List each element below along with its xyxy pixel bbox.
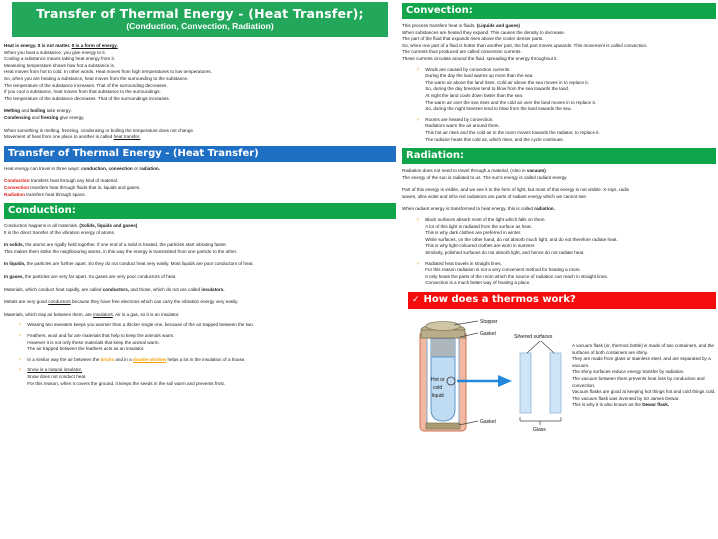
transfer-block: Heat energy can travel in three ways: co… [4, 166, 396, 198]
check-icon: ✓ [18, 322, 22, 329]
list-item: ✓ Snow is a natural insulator. Snow does… [18, 367, 396, 387]
and-1: and [21, 108, 29, 113]
convection-line: So, when one part of a fluid is hotter t… [402, 43, 716, 50]
bullet-line: This is why dark clothes are preferred i… [425, 230, 618, 237]
bullet-line: The air trapped between the feathers act… [27, 346, 174, 353]
radiation-block: Radiation does not need to travel throug… [402, 168, 716, 287]
state-change-line-1: Melting and boiling take energy. [4, 108, 396, 115]
section-bar-thermos: ✓How does a thermos work? [408, 292, 716, 309]
transform-pre: When radiant energy is transformed to he… [402, 206, 533, 211]
give-energy: give energy. [60, 115, 85, 120]
thermos-final-line: This is why it is also known as the Dewa… [572, 402, 718, 409]
thermos-desc-line: The vacuum flask was invented by Sir Jam… [572, 396, 718, 403]
check-icon: ✓ [416, 117, 420, 143]
bullet-line: This hot air rises and the cold air in t… [425, 130, 600, 137]
transfer-lead-pre: Heat energy can travel in three ways: [4, 166, 80, 171]
convection-line: The currents thus produced are called co… [402, 49, 716, 56]
metals-line: Metals are very good conductors because … [4, 299, 396, 306]
intro-line: So, when you are heating a substance, he… [4, 76, 396, 83]
list-item: ✓ Feathers, wool and fur are materials t… [18, 333, 396, 353]
solids-line-1: the atoms are rigidly held together. If … [24, 242, 227, 247]
bullet-line: The warm air over the sea rises and the … [425, 100, 596, 107]
intro-line: The temperature of the substance decreas… [4, 96, 396, 103]
trapped-post: . Air is a gas, so it is an insulator. [113, 312, 180, 317]
check-icon: ✓ [18, 357, 22, 364]
in-gases-lead: In gases, [4, 274, 24, 279]
bullet-line: Convection is a much better way of heati… [425, 280, 608, 287]
thermos-desc-line: A vacuum flask (or, thermos bottle) is m… [572, 343, 718, 350]
thermos-diagram: Stopper Gasket Gasket Hot or cold liquid… [402, 313, 718, 438]
list-item: ✓ Black surfaces absorb most of the ligh… [416, 217, 716, 257]
intro-line: The temperature of the substance increas… [4, 83, 396, 90]
trapped-air-line: Materials, which trap air between them, … [4, 312, 396, 319]
intro-heading-a: Heat is energy. It is not matter. [4, 43, 70, 48]
bullet-line: It only heats the parts of the room whic… [425, 274, 608, 281]
right-column: Convection: This process transfers heat … [400, 0, 718, 539]
check-icon: ✓ [416, 261, 420, 287]
definition-row: Radiation transfers heat through space. [4, 192, 396, 199]
definition-row: Convection transfers heat through fluids… [4, 185, 396, 192]
conductors-term: conductors, [103, 287, 129, 292]
in-solids-lead: In solids, [4, 242, 24, 247]
melting-term: Melting [4, 108, 20, 113]
heat-transfer-term: heat transfer. [114, 134, 141, 139]
bullet-text-group: Feathers, wool and fur are materials tha… [27, 333, 174, 353]
bullet-line: Winds are caused by convection currents. [425, 67, 596, 74]
bullet-line: So, during the night breezes tend to blo… [425, 106, 596, 113]
bullet-line: For this reason, when it covers the grou… [27, 381, 225, 388]
bullet-line: White surfaces, on the other hand, do no… [425, 237, 618, 244]
convection-line: These currents circulate around the flui… [402, 56, 716, 63]
list-item: ✓ In a similar way the air between the b… [18, 357, 396, 364]
bullet-text-group: Black surfaces absorb most of the light … [425, 217, 618, 257]
trapped-insulators-term: insulators [93, 312, 113, 317]
bullet-line: Snow does not conduct heat. [27, 374, 225, 381]
and-2: and [32, 115, 40, 120]
metals-conductors-term: conductors [48, 299, 70, 304]
conduction-lead-1: Conduction happens in all materials. (So… [4, 223, 396, 230]
bullet-text-group: Winds are caused by convection currents.… [425, 67, 596, 113]
conduction-block: Conduction happens in all materials. (So… [4, 223, 396, 387]
def-text-conduction: transfers heat through any kind of mater… [31, 178, 118, 183]
conduction-lead-pre: Conduction happens in all materials. [4, 223, 78, 228]
liquids-and-gases: (Liquids and gases) [477, 23, 520, 28]
section-bar-convection: Convection: [402, 3, 716, 19]
state-change-line-2: Condensing and freezing give energy. [4, 115, 396, 122]
dewar-flask-term: Dewar flask. [642, 402, 669, 407]
take-energy: take energy. [47, 108, 72, 113]
def-text-convection: transfers heat through fluids-that is, l… [30, 185, 140, 190]
bullet-line: Feathers, wool and fur are materials tha… [27, 333, 174, 340]
def-term-convection: Convection [4, 185, 29, 190]
thermos-desc-line: surfaces of both containers are shiny. [572, 350, 718, 357]
radiation-lead-1: Radiation does not need to travel throug… [402, 168, 716, 175]
label-liquid-3: liquid [432, 393, 444, 399]
thermos-desc-line: The vacuum between them prevents heat lo… [572, 376, 718, 389]
intro-line: Measuring temperature shows how hot a su… [4, 63, 396, 70]
final-pre: This is why it is also known as the [572, 402, 641, 407]
bullet-post: helps a lot in the insulation of a house… [167, 357, 245, 362]
bullet-pre: In a similar way the air between the [27, 357, 99, 362]
bullet-line: Black surfaces absorb most of the light … [425, 217, 618, 224]
thermos-description: A vacuum flask (or, thermos bottle) is m… [572, 343, 718, 409]
list-item: ✓ Winds are caused by convection current… [416, 67, 716, 113]
section-bar-radiation: Radiation: [402, 148, 716, 164]
conductors-line: Materials, which conduct heat rapidly, a… [4, 287, 396, 294]
list-item: ✓ Radiated heat travels in straight line… [416, 261, 716, 287]
convection-line: When substances are heated they expand. … [402, 30, 716, 37]
conduction-para-solids: In solids, the atoms are rigidly held to… [4, 242, 396, 249]
check-icon: ✓ [416, 67, 420, 113]
bullet-line: Rooms are heated by convection. [425, 117, 600, 124]
conduction-word: conduction, [81, 166, 107, 171]
radiation-word: radiation. [139, 166, 160, 171]
thermos-desc-line: The shiny surfaces reduce energy transfe… [572, 369, 718, 376]
bullet-line: So, during the day breezes tend to blow … [425, 86, 596, 93]
convection-block: This process transfers heat in fluids. (… [402, 23, 716, 143]
radiation-visible-1: Part of this energy is visible, and we s… [402, 187, 716, 194]
closing-pre: Movement of heat from one place to anoth… [4, 134, 112, 139]
highlight-bricks: bricks [101, 357, 115, 362]
worksheet-page: Transfer of Thermal Energy - (Heat Trans… [0, 0, 718, 539]
conductors-pre: Materials, which conduct heat rapidly, a… [4, 287, 101, 292]
bullet-line: Snow is a natural insulator. [27, 367, 225, 374]
conduction-para-gases: In gases, the particles are very far apa… [4, 274, 396, 281]
in-liquids-lead: In liquids, [4, 261, 25, 266]
bullet-line: However it is not only these materials t… [27, 340, 174, 347]
highlight-double-window: double window [133, 357, 166, 362]
left-column: Transfer of Thermal Energy - (Heat Trans… [0, 0, 400, 539]
condensing-term: Condensing [4, 115, 31, 120]
main-title: Transfer of Thermal Energy - (Heat Trans… [14, 6, 386, 21]
check-icon: ✓ [18, 367, 22, 387]
freezing-term: freezing [41, 115, 59, 120]
label-liquid-2: cold [433, 385, 442, 391]
conduction-para-liquids: In liquids, the particles are further ap… [4, 261, 396, 268]
radiation-transform: When radiant energy is transformed to he… [402, 206, 716, 213]
label-gasket-bottom: Gasket [480, 419, 496, 425]
liquids-line-1: the particles are further apart. So they… [25, 261, 253, 266]
def-term-radiation: Radiation [4, 192, 25, 197]
main-title-banner: Transfer of Thermal Energy - (Heat Trans… [12, 2, 388, 37]
conduction-lead-2: It is the direct transfer of the vibrati… [4, 230, 396, 237]
radiation-visible-2: waves, ultra violet and infra red radiat… [402, 194, 716, 201]
bullet-text-group: Snow is a natural insulator. Snow does n… [27, 367, 225, 387]
check-icon: ✓ [18, 333, 22, 353]
check-icon: ✓ [416, 217, 420, 257]
bullet-line: At night the land cools down faster than… [425, 93, 596, 100]
radiation-lead-2: The energy of the sun is radiated to us.… [402, 175, 716, 182]
vacuum-term: vacuum) [527, 168, 546, 173]
bullet-line: For this reason radiation is not a very … [425, 267, 608, 274]
convection-lead-pre: This process transfers heat in fluids. [402, 23, 476, 28]
intro-line: Cooling a substance means taking heat en… [4, 56, 396, 63]
convection-lead: This process transfers heat in fluids. (… [402, 23, 716, 30]
label-stopper: Stopper [480, 319, 498, 325]
label-silvered-surfaces: Silvered surfaces [514, 334, 553, 340]
intro-block: Heat is energy. It is not matter. It is … [4, 43, 396, 141]
transfer-lead: Heat energy can travel in three ways: co… [4, 166, 396, 173]
list-item: ✓ Rooms are heated by convection. Radiat… [416, 117, 716, 143]
trapped-pre: Materials, which trap air between them, … [4, 312, 92, 317]
bullet-line: The warm air above the land rises. Cold … [425, 80, 596, 87]
intro-line: When you heat a substance, you give ener… [4, 50, 396, 57]
def-term-conduction: Conduction [4, 178, 30, 183]
bullet-line: Radiators warm the air around them. [425, 123, 600, 130]
bullet-text-group: Radiated heat travels in straight lines.… [425, 261, 608, 287]
section-bar-conduction: Conduction: [4, 203, 396, 219]
radiation-lead-pre: Radiation does not need to travel throug… [402, 168, 526, 173]
insulators-term: insulators. [201, 287, 224, 292]
solids-line-2: This makes them strike the neighbouring … [4, 249, 396, 256]
definition-row: Conduction transfers heat through any ki… [4, 178, 396, 185]
label-liquid-1: Hot or [431, 377, 445, 383]
label-glass: Glass [533, 427, 546, 433]
bullet-line: Radiated heat travels in straight lines. [425, 261, 608, 268]
main-subtitle: (Conduction, Convection, Radiation) [14, 21, 386, 32]
bullet-text: Wearing two sweaters keeps you warmer th… [27, 322, 254, 329]
convection-line: The part of the fluid that expands rises… [402, 36, 716, 43]
thermos-desc-line: They are made from glass or stainless st… [572, 356, 718, 369]
bullet-line: The radiator heats this cold air, which … [425, 137, 600, 144]
intro-line: Heat moves from hot to cold. In other wo… [4, 69, 396, 76]
intro-closing-2: Movement of heat from one place to anoth… [4, 134, 396, 141]
bullet-line: This is why light-coloured clothes are w… [425, 243, 618, 250]
boiling-term: boiling [30, 108, 45, 113]
thermos-desc-line: Vacuum flasks are good at keeping hot th… [572, 389, 718, 396]
intro-closing-1: When something is melting, freezing, con… [4, 128, 396, 135]
label-gasket-top: Gasket [480, 331, 496, 337]
bullet-text-highlight: In a similar way the air between the bri… [27, 357, 245, 364]
list-item: ✓ Wearing two sweaters keeps you warmer … [18, 322, 396, 329]
convection-word: convection [108, 166, 132, 171]
or-word: or [134, 166, 138, 171]
bullet-line: During the day the land warms up more th… [425, 73, 596, 80]
gases-line-1: the particles are very far apart. So gas… [24, 274, 177, 279]
radiation-term: radiation. [534, 206, 555, 211]
check-icon: ✓ [412, 295, 420, 305]
intro-heading-b: It is a form of energy. [72, 43, 118, 48]
section-bar-transfer: Transfer of Thermal Energy - (Heat Trans… [4, 146, 396, 162]
metals-post: because they have free electrons which c… [72, 299, 238, 304]
bullet-text-group: Rooms are heated by convection. Radiator… [425, 117, 600, 143]
bullet-line: Similarly, polished surfaces do not abso… [425, 250, 618, 257]
intro-line: If you cool a substance, heat moves from… [4, 89, 396, 96]
conductors-mid: and those, which do not are called [130, 287, 200, 292]
bullet-line: A lot of this light is radiated from the… [425, 224, 618, 231]
states-of-matter: (Solids, liquids and gases) [79, 223, 137, 228]
bullet-mid: and in a [115, 357, 131, 362]
def-text-radiation: transfers heat through space. [26, 192, 86, 197]
intro-heading: Heat is energy. It is not matter. It is … [4, 43, 396, 50]
thermos-bar-label: How does a thermos work? [424, 294, 576, 305]
metals-pre: Metals are very good [4, 299, 47, 304]
